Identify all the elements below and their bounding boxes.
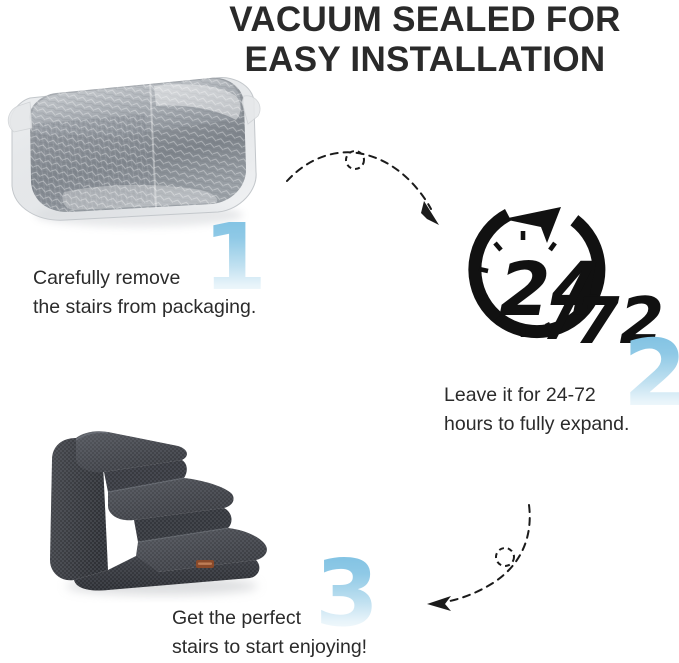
dashed-arrow-step2-to-step3 bbox=[425, 503, 585, 619]
step-number-2: 2 bbox=[623, 328, 679, 420]
step-3-caption-line-1: Get the perfect bbox=[172, 604, 367, 633]
step-2-caption-line-2: hours to fully expand. bbox=[444, 410, 629, 439]
brand-tag bbox=[196, 560, 214, 568]
dashed-arrow-step1-to-step2 bbox=[285, 143, 453, 229]
step-3-caption: Get the perfect stairs to start enjoying… bbox=[172, 604, 367, 662]
step-3-caption-line-2: stairs to start enjoying! bbox=[172, 633, 367, 662]
clock-24-72-icon: 24 / 72 bbox=[443, 203, 635, 353]
vacuum-sealed-package-photo bbox=[4, 62, 266, 224]
step-1-caption: Carefully remove the stairs from packagi… bbox=[33, 264, 256, 322]
step-1-caption-line-1: Carefully remove bbox=[33, 264, 256, 293]
page-title-line-1: VACUUM SEALED FOR bbox=[180, 0, 670, 40]
pet-stairs-photo bbox=[38, 420, 276, 595]
step-2-caption: Leave it for 24-72 hours to fully expand… bbox=[444, 381, 629, 439]
infographic-canvas: VACUUM SEALED FOR EASY INSTALLATION bbox=[0, 0, 679, 663]
step-1-caption-line-2: the stairs from packaging. bbox=[33, 293, 256, 322]
step-2-caption-line-1: Leave it for 24-72 bbox=[444, 381, 629, 410]
